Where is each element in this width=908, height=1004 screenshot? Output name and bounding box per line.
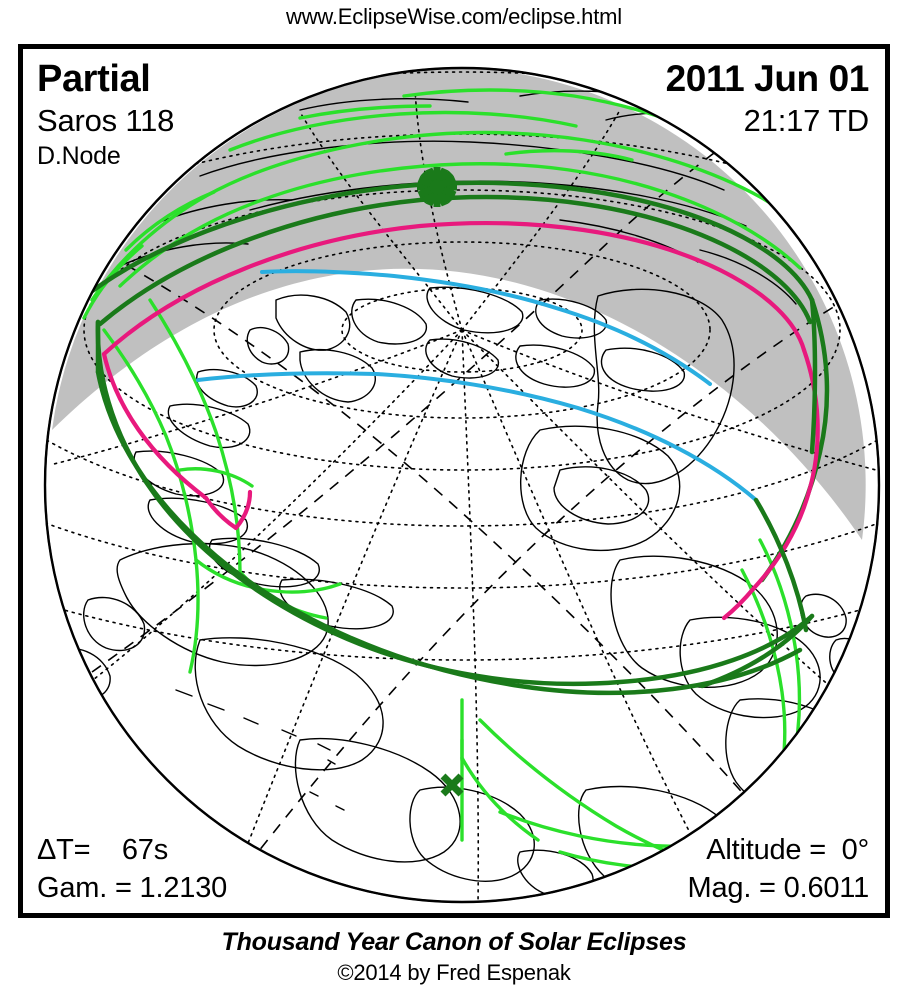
delta-t-label: ΔT= 67s xyxy=(37,831,227,869)
globe-stage xyxy=(23,49,885,913)
header-right-block: 2011 Jun 01 21:17 TD xyxy=(666,57,869,140)
caption-credit: ©2014 by Fred Espenak xyxy=(0,958,908,988)
footer-right-block: Altitude = 0° Mag. = 0.6011 xyxy=(688,831,869,907)
magnitude-label: Mag. = 0.6011 xyxy=(688,869,869,907)
footer-left-block: ΔT= 67s Gam. = 1.2130 xyxy=(37,831,227,907)
globe-map xyxy=(23,49,885,913)
caption-title: Thousand Year Canon of Solar Eclipses xyxy=(0,926,908,958)
eclipse-type-label: Partial xyxy=(37,57,174,101)
altitude-label: Altitude = 0° xyxy=(688,831,869,869)
gamma-label: Gam. = 1.2130 xyxy=(37,869,227,907)
figure-caption: Thousand Year Canon of Solar Eclipses ©2… xyxy=(0,926,908,988)
greatest-eclipse-star-marker xyxy=(417,167,457,207)
node-label: D.Node xyxy=(37,140,174,173)
eclipse-time-label: 21:17 TD xyxy=(666,101,869,140)
eclipse-date-label: 2011 Jun 01 xyxy=(666,57,869,101)
header-left-block: Partial Saros 118 D.Node xyxy=(37,57,174,173)
map-frame: Partial Saros 118 D.Node 2011 Jun 01 21:… xyxy=(18,44,890,918)
source-url-label: www.EclipseWise.com/eclipse.html xyxy=(0,4,908,30)
eclipse-figure: www.EclipseWise.com/eclipse.html xyxy=(0,0,908,1004)
saros-label: Saros 118 xyxy=(37,101,174,140)
